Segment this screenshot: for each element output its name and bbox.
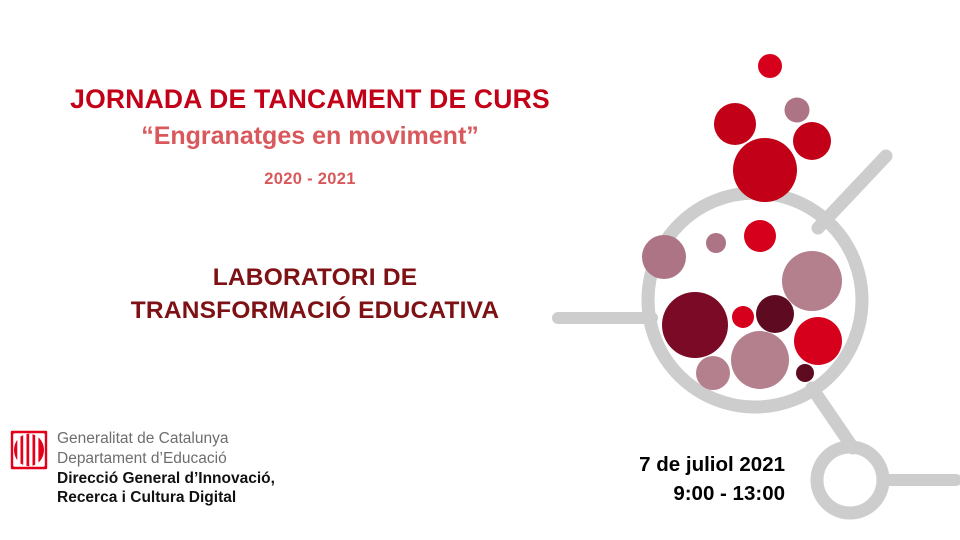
small-ring-outline <box>817 447 883 513</box>
bubble <box>642 235 686 279</box>
bubble <box>758 54 782 78</box>
logo-line-direccio: Direcció General d’Innovació, <box>57 469 275 489</box>
bubble <box>785 98 810 123</box>
bubble <box>733 138 797 202</box>
bubble <box>706 233 726 253</box>
event-date: 7 de juliol 2021 <box>470 450 785 479</box>
bubble <box>796 364 814 382</box>
bubble <box>744 220 776 252</box>
bubble <box>732 306 754 328</box>
bubble <box>756 295 794 333</box>
logo-line-recerca: Recerca i Cultura Digital <box>57 488 275 508</box>
upper-diagonal-line <box>818 156 886 228</box>
subject-heading-line-2: TRANSFORMACIÓ EDUCATIVA <box>0 295 630 328</box>
lower-diagonal-line <box>812 388 853 448</box>
bubble <box>774 161 796 183</box>
bubble <box>794 317 842 365</box>
logo-line-generalitat: Generalitat de Catalunya <box>57 429 275 449</box>
subject-heading: LABORATORI DE TRANSFORMACIÓ EDUCATIVA <box>0 262 630 327</box>
bubble <box>782 251 842 311</box>
subject-heading-line-1: LABORATORI DE <box>0 262 630 295</box>
large-ring-outline <box>648 193 862 407</box>
bubble <box>793 122 831 160</box>
bubble <box>731 331 789 389</box>
page-title: JORNADA DE TANCAMENT DE CURS <box>0 84 620 115</box>
page-subtitle: “Engranatges en moviment” <box>0 121 620 152</box>
institution-logo: Generalitat de Catalunya Departament d’E… <box>10 428 275 508</box>
headline-block: JORNADA DE TANCAMENT DE CURS “Engranatge… <box>0 84 620 189</box>
presentation-slide: JORNADA DE TANCAMENT DE CURS “Engranatge… <box>0 0 960 540</box>
bubble <box>714 103 756 145</box>
generalitat-catalunya-shield-icon <box>10 430 48 470</box>
bubble <box>696 356 730 390</box>
academic-year-label: 2020 - 2021 <box>0 170 620 189</box>
institution-logo-text: Generalitat de Catalunya Departament d’E… <box>57 428 275 508</box>
event-time: 9:00 - 13:00 <box>470 479 785 508</box>
bubble <box>662 292 728 358</box>
logo-line-departament: Departament d’Educació <box>57 449 275 469</box>
event-datetime: 7 de juliol 2021 9:00 - 13:00 <box>470 450 785 508</box>
bubble-cluster <box>642 54 842 390</box>
